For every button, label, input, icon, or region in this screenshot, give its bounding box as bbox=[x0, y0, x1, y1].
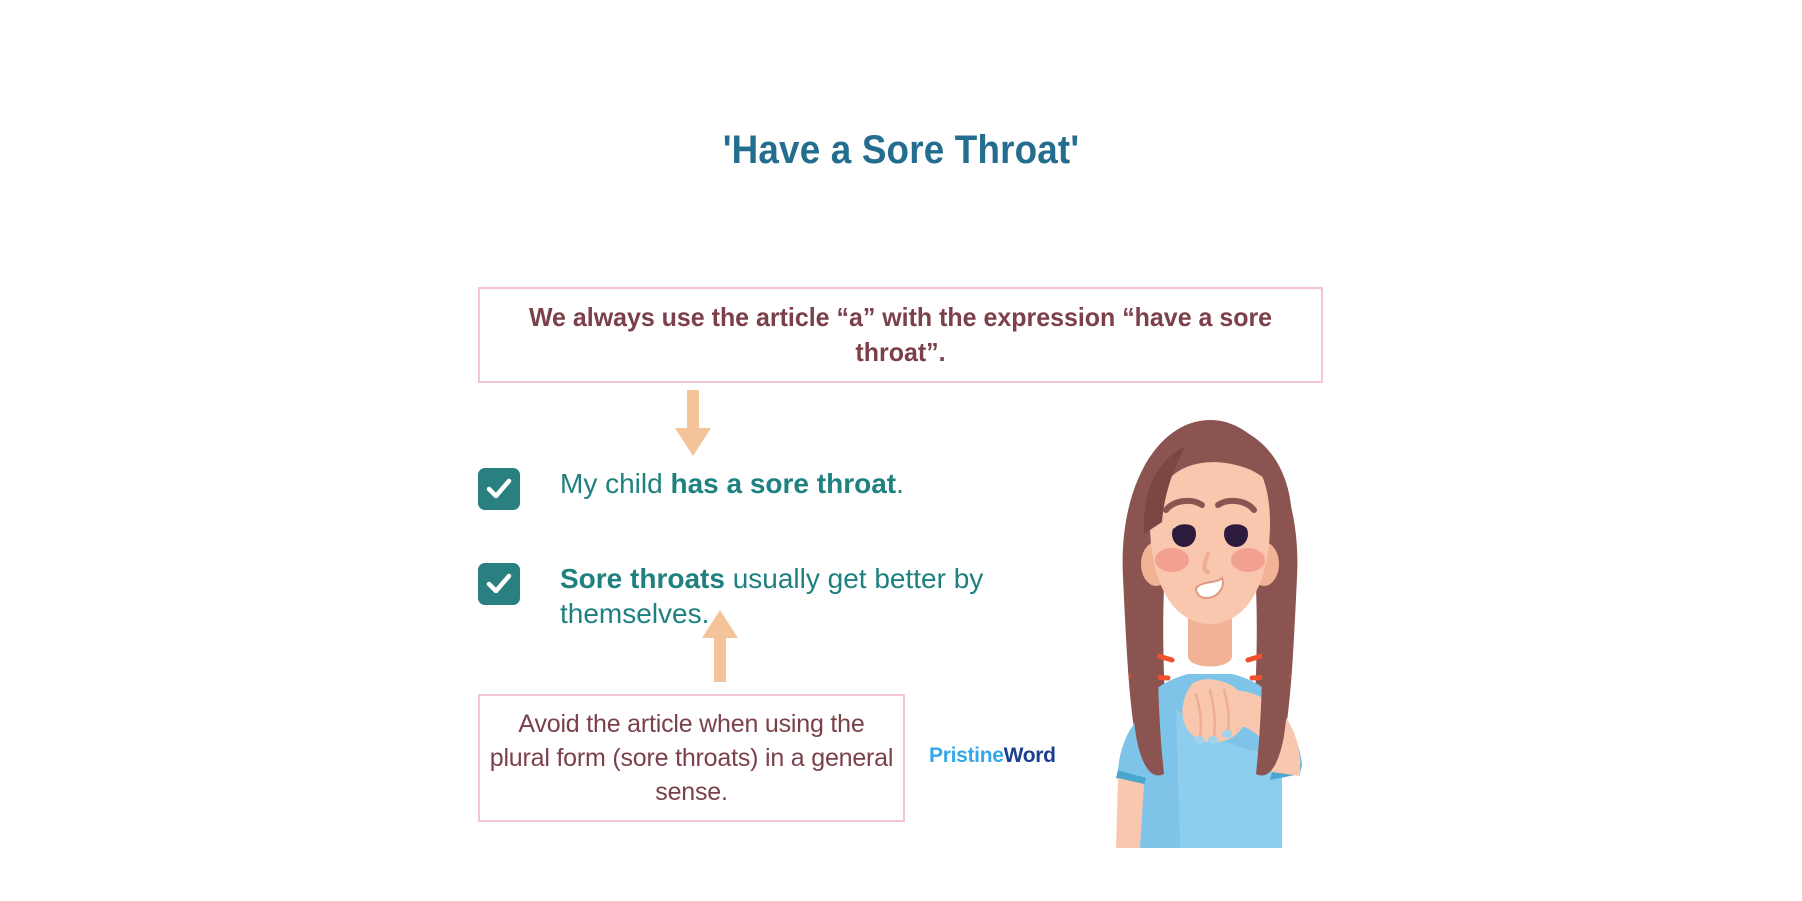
logo-part-pristine: Pristine bbox=[929, 744, 1004, 767]
bottom-rule-box: Avoid the article when using the plural … bbox=[478, 694, 905, 822]
arrow-down-icon bbox=[673, 390, 713, 456]
girl-with-sore-throat-illustration bbox=[1080, 388, 1340, 848]
pristineword-logo[interactable]: PristineWord bbox=[929, 744, 1056, 768]
arrow-up-icon bbox=[700, 610, 740, 682]
page-title: 'Have a Sore Throat' bbox=[72, 128, 1730, 173]
example-1-bold: has a sore throat bbox=[670, 468, 896, 499]
check-icon bbox=[485, 475, 513, 503]
checkmark-checkbox[interactable] bbox=[478, 563, 520, 605]
example-2-bold: Sore throats bbox=[560, 563, 725, 594]
bottom-rule-box-text: Avoid the article when using the plural … bbox=[480, 707, 903, 810]
check-icon bbox=[485, 570, 513, 598]
logo-part-word: Word bbox=[1004, 744, 1056, 767]
example-text-2: Sore throats usually get better by thems… bbox=[560, 561, 998, 631]
checkmark-checkbox[interactable] bbox=[478, 468, 520, 510]
example-item-1: My child has a sore throat. bbox=[478, 466, 904, 510]
example-1-prefix: My child bbox=[560, 468, 670, 499]
top-rule-box-text: We always use the article “a” with the e… bbox=[497, 300, 1304, 370]
top-rule-box: We always use the article “a” with the e… bbox=[478, 287, 1323, 383]
example-text-1: My child has a sore throat. bbox=[560, 466, 904, 501]
example-1-suffix: . bbox=[896, 468, 904, 499]
slide-canvas: 'Have a Sore Throat' We always use the a… bbox=[0, 0, 1802, 901]
